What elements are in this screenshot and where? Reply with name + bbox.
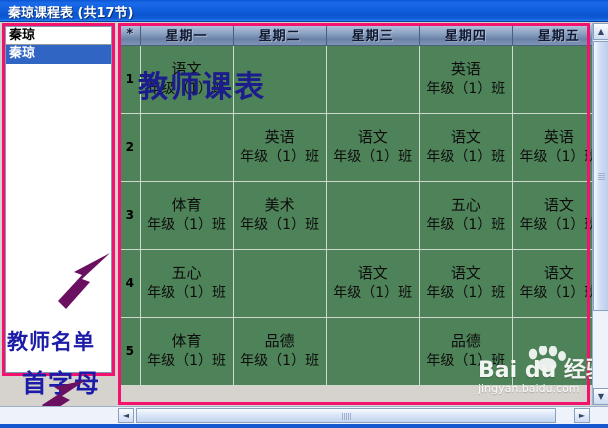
schedule-cell[interactable]: 语文 年级（1）班 — [419, 113, 512, 181]
cell-class: 年级（1）班 — [419, 79, 512, 99]
column-header-rownum[interactable]: * — [120, 25, 140, 45]
scrollbar-grip-icon — [598, 173, 605, 180]
column-header-thursday[interactable]: 星期四 — [419, 25, 512, 45]
schedule-cell[interactable]: 语文 年级（1）班 — [140, 45, 233, 113]
column-header-monday[interactable]: 星期一 — [140, 25, 233, 45]
schedule-cell[interactable] — [326, 181, 419, 249]
cell-class: 年级（1）班 — [419, 351, 512, 371]
cell-subject: 英语 — [234, 127, 326, 147]
scroll-up-icon[interactable]: ▲ — [593, 23, 608, 40]
table-row: 3 体育 年级（1）班 美术 年级（1）班 五心 — [120, 181, 606, 249]
horizontal-scrollbar-thumb[interactable] — [136, 408, 556, 423]
row-number: 2 — [120, 113, 140, 181]
schedule-table-body: 1 语文 年级（1）班 英语 年级（1）班 — [120, 45, 606, 385]
row-number: 4 — [120, 249, 140, 317]
schedule-cell[interactable]: 品德 年级（1）班 — [233, 317, 326, 385]
cell-subject: 体育 — [141, 195, 233, 215]
schedule-cell[interactable] — [233, 249, 326, 317]
cell-subject: 五心 — [141, 263, 233, 283]
schedule-cell[interactable]: 英语 年级（1）班 — [233, 113, 326, 181]
table-row: 1 语文 年级（1）班 英语 年级（1）班 — [120, 45, 606, 113]
teacher-list-highlight-frame: 秦琼 秦琼 — [2, 23, 115, 376]
cell-subject: 语文 — [420, 127, 512, 147]
scroll-left-icon[interactable]: ◄ — [118, 408, 134, 423]
cell-subject: 美术 — [234, 195, 326, 215]
cell-subject: 英语 — [420, 59, 512, 79]
cell-subject: 五心 — [420, 195, 512, 215]
table-header-row: * 星期一 星期二 星期三 星期四 星期五 — [120, 25, 606, 45]
row-number: 3 — [120, 181, 140, 249]
schedule-cell[interactable]: 体育 年级（1）班 — [140, 181, 233, 249]
schedule-cell[interactable]: 五心 年级（1）班 — [140, 249, 233, 317]
column-header-wednesday[interactable]: 星期三 — [326, 25, 419, 45]
schedule-grid-panel: * 星期一 星期二 星期三 星期四 星期五 1 语文 年级（1）班 — [118, 23, 608, 405]
teacher-list-header: 秦琼 — [6, 27, 111, 45]
row-number: 5 — [120, 317, 140, 385]
schedule-table: * 星期一 星期二 星期三 星期四 星期五 1 语文 年级（1）班 — [120, 25, 606, 386]
sidebar-panel: 秦琼 秦琼 教师名单 首字母 — [0, 23, 117, 405]
cell-class: 年级（1）班 — [233, 147, 326, 167]
schedule-cell[interactable]: 语文 年级（1）班 — [326, 249, 419, 317]
schedule-cell[interactable]: 体育 年级（1）班 — [140, 317, 233, 385]
cell-subject: 语文 — [327, 263, 419, 283]
annotation-teacher-list-label: 教师名单 — [7, 326, 95, 356]
cell-class: 年级（1）班 — [233, 215, 326, 235]
list-item[interactable]: 秦琼 — [6, 45, 111, 64]
cell-class: 年级（1）班 — [326, 147, 419, 167]
cell-class: 年级（1）班 — [233, 351, 326, 371]
schedule-cell[interactable]: 语文 年级（1）班 — [419, 249, 512, 317]
schedule-cell[interactable] — [233, 45, 326, 113]
annotation-arrow-to-list — [56, 251, 112, 313]
cell-class: 年级（1）班 — [140, 79, 233, 99]
schedule-cell[interactable] — [140, 113, 233, 181]
cell-class: 年级（1）班 — [419, 215, 512, 235]
teacher-listbox[interactable]: 秦琼 秦琼 — [5, 26, 112, 373]
cell-subject: 品德 — [234, 331, 326, 351]
application-window: 秦琼课程表 (共17节) 秦琼 秦琼 教师名单 首字母 * — [0, 0, 608, 428]
vertical-scrollbar-thumb[interactable] — [593, 41, 608, 311]
cell-class: 年级（1）班 — [326, 283, 419, 303]
cell-subject: 语文 — [420, 263, 512, 283]
window-bottom-edge — [0, 424, 608, 428]
schedule-cell[interactable]: 品德 年级（1）班 — [419, 317, 512, 385]
schedule-cell[interactable] — [326, 45, 419, 113]
scrollbar-grip-icon — [342, 413, 351, 420]
table-row: 2 英语 年级（1）班 语文 年级（1）班 语文 — [120, 113, 606, 181]
scroll-down-icon[interactable]: ▼ — [593, 388, 608, 405]
schedule-cell[interactable]: 五心 年级（1）班 — [419, 181, 512, 249]
cell-subject: 语文 — [327, 127, 419, 147]
cell-class: 年级（1）班 — [140, 283, 233, 303]
vertical-scrollbar[interactable]: ▲ ▼ — [592, 23, 608, 405]
cell-subject: 语文 — [141, 59, 233, 79]
cell-class: 年级（1）班 — [140, 215, 233, 235]
column-header-tuesday[interactable]: 星期二 — [233, 25, 326, 45]
table-row: 5 体育 年级（1）班 品德 年级（1）班 品德 — [120, 317, 606, 385]
schedule-cell[interactable]: 英语 年级（1）班 — [419, 45, 512, 113]
table-row: 4 五心 年级（1）班 语文 年级（1）班 语文 — [120, 249, 606, 317]
schedule-cell[interactable]: 语文 年级（1）班 — [326, 113, 419, 181]
cell-class: 年级（1）班 — [419, 147, 512, 167]
cell-subject: 品德 — [420, 331, 512, 351]
schedule-cell[interactable]: 美术 年级（1）班 — [233, 181, 326, 249]
scroll-right-icon[interactable]: ► — [574, 408, 590, 423]
row-number: 1 — [120, 45, 140, 113]
cell-class: 年级（1）班 — [419, 283, 512, 303]
window-titlebar: 秦琼课程表 (共17节) — [0, 0, 608, 22]
cell-class: 年级（1）班 — [140, 351, 233, 371]
schedule-cell[interactable] — [326, 317, 419, 385]
cell-subject: 体育 — [141, 331, 233, 351]
window-title: 秦琼课程表 (共17节) — [8, 2, 134, 21]
horizontal-scrollbar[interactable]: ◄ ► — [0, 406, 608, 424]
